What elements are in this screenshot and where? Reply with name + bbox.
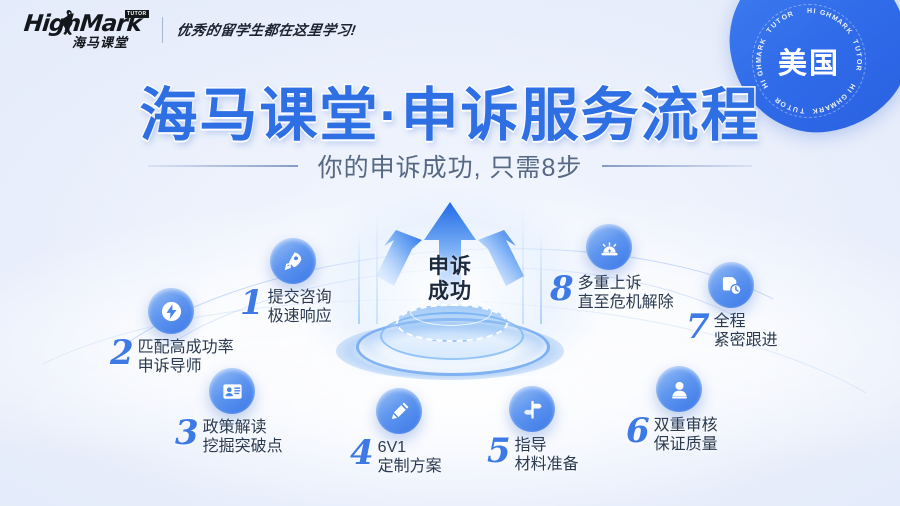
step-2-number: 2 <box>110 338 134 368</box>
step-3-line2: 挖掘突破点 <box>203 437 283 456</box>
step-4-text: 4 6V1 定制方案 <box>350 438 442 476</box>
step-6-node[interactable] <box>656 366 702 412</box>
step-3-node[interactable] <box>209 368 255 414</box>
infographic-poster: HighMark TUTOR 海马课堂 优秀的留学生都在这里学习! HIGHMA… <box>0 0 900 506</box>
step-2[interactable]: 2 匹配高成功率 申诉导师 <box>110 288 234 376</box>
logo-trademark: TUTOR <box>125 10 149 18</box>
step-6-line1: 双重审核 <box>654 416 718 435</box>
step-4-number: 4 <box>350 438 374 468</box>
step-4-line1: 6V1 <box>378 438 442 457</box>
step-1-line1: 提交咨询 <box>268 288 332 307</box>
step-5-line1: 指导 <box>515 436 579 455</box>
step-2-node[interactable] <box>148 288 194 334</box>
id-card-icon <box>221 380 244 403</box>
step-1-node[interactable] <box>270 238 316 284</box>
hub-label-line1: 申诉 <box>330 254 570 279</box>
step-7-text: 7 全程 紧密跟进 <box>686 312 778 350</box>
alarm-siren-icon <box>598 236 621 259</box>
signpost-icon <box>521 398 544 421</box>
step-8-text: 8 多重上诉 直至危机解除 <box>550 274 674 312</box>
page-title: 海马课堂·申诉服务流程 <box>0 68 900 152</box>
step-5[interactable]: 5 指导 材料准备 <box>487 386 579 474</box>
step-5-node[interactable] <box>509 386 555 432</box>
header-divider <box>162 17 163 43</box>
step-5-number: 5 <box>487 436 511 466</box>
step-6-text: 6 双重审核 保证质量 <box>626 416 718 454</box>
step-8[interactable]: 8 多重上诉 直至危机解除 <box>550 224 674 312</box>
rocket-icon <box>282 250 305 273</box>
step-7-number: 7 <box>686 312 710 342</box>
step-5-text: 5 指导 材料准备 <box>487 436 579 474</box>
step-8-line2: 直至危机解除 <box>578 293 674 312</box>
step-6-number: 6 <box>626 416 650 446</box>
step-7[interactable]: 7 全程 紧密跟进 <box>686 262 778 350</box>
step-7-node[interactable] <box>708 262 754 308</box>
hub-label-line2: 成功 <box>330 279 570 304</box>
step-7-line1: 全程 <box>714 312 778 331</box>
step-4-line2: 定制方案 <box>378 457 442 476</box>
step-3-line1: 政策解读 <box>203 418 283 437</box>
page-subtitle: 你的申诉成功, 只需8步 <box>318 148 583 184</box>
subtitle-row: 你的申诉成功, 只需8步 <box>0 148 900 184</box>
hub-ring-platform <box>336 294 564 380</box>
step-7-line2: 紧密跟进 <box>714 331 778 350</box>
subtitle-rule-left <box>148 165 298 167</box>
step-2-line1: 匹配高成功率 <box>138 338 234 357</box>
user-check-icon <box>668 378 691 401</box>
step-4[interactable]: 4 6V1 定制方案 <box>350 388 442 476</box>
step-5-line2: 材料准备 <box>515 455 579 474</box>
subtitle-rule-right <box>602 165 752 167</box>
step-1-line2: 极速响应 <box>268 307 332 326</box>
step-1-number: 1 <box>240 288 264 318</box>
lightning-icon <box>160 300 183 323</box>
step-8-number: 8 <box>550 274 574 304</box>
step-6[interactable]: 6 双重审核 保证质量 <box>626 366 718 454</box>
step-8-node[interactable] <box>586 224 632 270</box>
center-hub: 申诉 成功 <box>330 196 570 366</box>
step-8-line1: 多重上诉 <box>578 274 674 293</box>
hub-label: 申诉 成功 <box>330 254 570 304</box>
header-tagline: 优秀的留学生都在这里学习! <box>176 20 358 40</box>
step-1-text: 1 提交咨询 极速响应 <box>240 288 332 326</box>
pencil-icon <box>388 400 411 423</box>
logo-chinese-name: 海马课堂 <box>72 32 128 51</box>
step-4-node[interactable] <box>376 388 422 434</box>
brand-logo[interactable]: HighMark TUTOR 海马课堂 优秀的留学生都在这里学习! <box>24 9 356 51</box>
step-6-line2: 保证质量 <box>654 435 718 454</box>
step-3-number: 3 <box>175 418 199 448</box>
clock-document-icon <box>720 274 743 297</box>
step-3[interactable]: 3 政策解读 挖掘突破点 <box>175 368 283 456</box>
step-1[interactable]: 1 提交咨询 极速响应 <box>240 238 332 326</box>
logo-mark: HighMark TUTOR 海马课堂 <box>24 9 144 51</box>
step-3-text: 3 政策解读 挖掘突破点 <box>175 418 283 456</box>
